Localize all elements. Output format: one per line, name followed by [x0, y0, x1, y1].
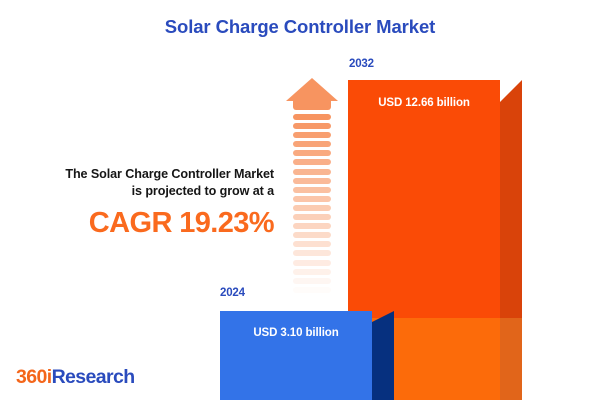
bar-chart-area: 2032 USD 12.66 billion 2024 USD 3.10 bil…: [0, 0, 600, 400]
bar-2024-front-face: [220, 311, 372, 400]
logo-text-360: 360: [16, 366, 47, 388]
bar-value-label-2024: USD 3.10 billion: [220, 327, 372, 339]
bar-year-label-2032: 2032: [349, 58, 374, 70]
bar-2032-side-face-lower: [500, 318, 522, 400]
bar-2024-side-face: [372, 311, 394, 400]
bar-value-label-2032: USD 12.66 billion: [348, 97, 500, 109]
bar-year-label-2024: 2024: [220, 287, 245, 299]
logo-text-research: Research: [52, 366, 135, 388]
infographic-canvas: Solar Charge Controller Market The Solar…: [0, 0, 600, 400]
brand-logo: 360iResearch: [16, 366, 135, 389]
